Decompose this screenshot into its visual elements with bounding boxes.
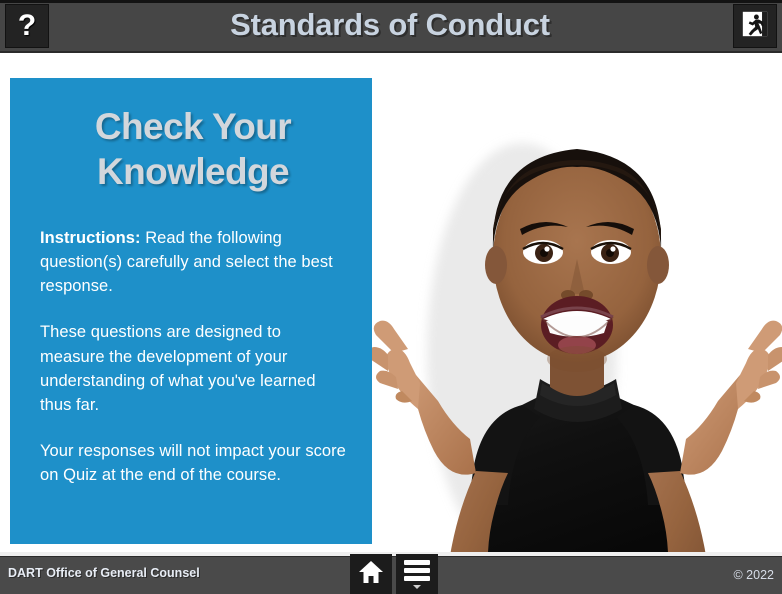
- scoring-paragraph: Your responses will not impact your scor…: [40, 439, 346, 487]
- exit-running-man-icon: [740, 9, 770, 44]
- organization-label: DART Office of General Counsel: [8, 566, 200, 580]
- hamburger-menu-icon: [404, 560, 430, 584]
- title-bar: ? Standards of Conduct: [0, 0, 782, 53]
- instructions-paragraph: Instructions: Read the following questio…: [40, 226, 346, 298]
- home-icon: [358, 560, 384, 589]
- question-mark-icon: ?: [18, 11, 36, 41]
- instructions-label: Instructions:: [40, 229, 141, 247]
- copyright-label: © 2022: [734, 568, 775, 582]
- course-player-window: ? Standards of Conduct: [0, 0, 782, 594]
- purpose-paragraph: These questions are designed to measure …: [40, 320, 346, 416]
- slide-stage: Check Your Knowledge Instructions: Read …: [0, 53, 782, 552]
- presenter-photo: [372, 53, 782, 552]
- instructions-panel: Check Your Knowledge Instructions: Read …: [10, 78, 372, 544]
- exit-button[interactable]: [733, 4, 777, 48]
- chevron-down-icon: [413, 585, 421, 589]
- panel-heading: Check Your Knowledge: [40, 104, 346, 194]
- menu-button[interactable]: [396, 554, 438, 594]
- page-title: Standards of Conduct: [90, 0, 690, 51]
- help-button[interactable]: ?: [5, 4, 49, 48]
- home-button[interactable]: [350, 554, 392, 594]
